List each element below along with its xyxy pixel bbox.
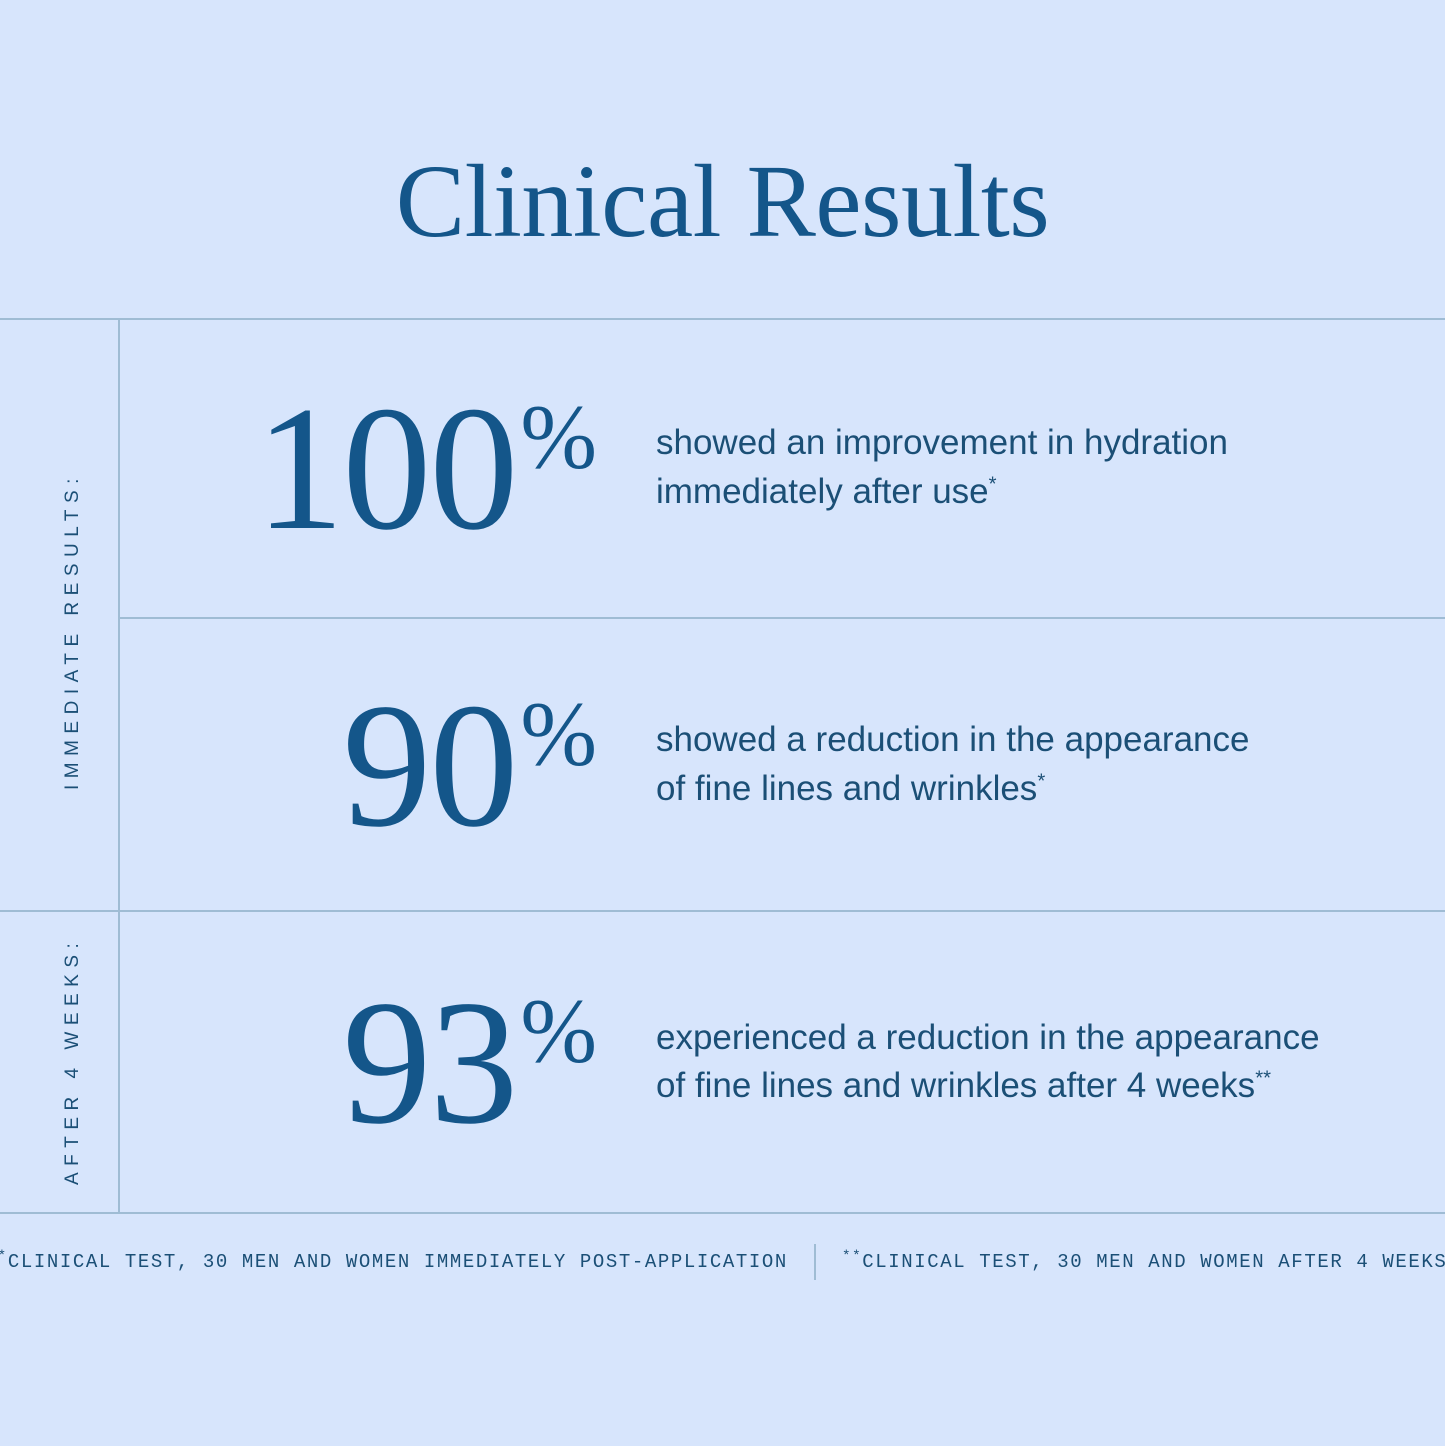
footnote-divider <box>814 1244 816 1280</box>
footnote-2-marker: ** <box>842 1248 862 1264</box>
stat-description-line-1: showed a reduction in the appearance <box>656 720 1249 759</box>
footnote-1: *CLINICAL TEST, 30 MEN AND WOMEN IMMEDIA… <box>0 1253 788 1272</box>
percent-symbol: % <box>520 386 597 488</box>
divider-footnotes <box>0 1212 1445 1214</box>
stat-description-line-1: experienced a reduction in the appearanc… <box>656 1018 1320 1057</box>
stat-description-line-2: of fine lines and wrinkles <box>656 769 1037 808</box>
stat-value: 90 <box>342 666 516 864</box>
stat-description: experienced a reduction in the appearanc… <box>598 1014 1445 1111</box>
footnote-marker: * <box>989 473 997 495</box>
stat-value: 100 <box>255 369 516 567</box>
stat-row: 90% showed a reduction in the appearance… <box>118 619 1445 910</box>
stat-value-group: 93% <box>118 973 598 1151</box>
stat-value-group: 90% <box>118 676 598 854</box>
section-label-immediate-results: IMMEDIATE RESULTS: <box>62 472 84 790</box>
percent-symbol: % <box>520 980 597 1082</box>
stat-description: showed a reduction in the appearance of … <box>598 716 1445 813</box>
footnote-2: **CLINICAL TEST, 30 MEN AND WOMEN AFTER … <box>842 1253 1445 1272</box>
footnote-1-marker: * <box>0 1248 8 1264</box>
page-title: Clinical Results <box>0 150 1445 254</box>
stat-description-line-2: of fine lines and wrinkles after 4 weeks <box>656 1066 1255 1105</box>
stat-description: showed an improvement in hydration immed… <box>598 419 1445 516</box>
stat-value-group: 100% <box>118 379 598 557</box>
footnotes: *CLINICAL TEST, 30 MEN AND WOMEN IMMEDIA… <box>0 1242 1445 1282</box>
section-label-after-4-weeks: AFTER 4 WEEKS: <box>62 937 84 1185</box>
stat-value: 93 <box>342 963 516 1161</box>
footnote-2-text: CLINICAL TEST, 30 MEN AND WOMEN AFTER 4 … <box>862 1251 1445 1273</box>
footnote-1-text: CLINICAL TEST, 30 MEN AND WOMEN IMMEDIAT… <box>8 1251 788 1273</box>
clinical-results-infographic: Clinical Results IMMEDIATE RESULTS: AFTE… <box>0 0 1445 1446</box>
stat-description-line-2: immediately after use <box>656 472 989 511</box>
stat-row: 100% showed an improvement in hydration … <box>118 318 1445 617</box>
footnote-marker: * <box>1037 770 1045 792</box>
stat-description-line-1: showed an improvement in hydration <box>656 423 1228 462</box>
footnote-marker: ** <box>1255 1067 1271 1089</box>
percent-symbol: % <box>520 683 597 785</box>
stat-row: 93% experienced a reduction in the appea… <box>118 912 1445 1212</box>
